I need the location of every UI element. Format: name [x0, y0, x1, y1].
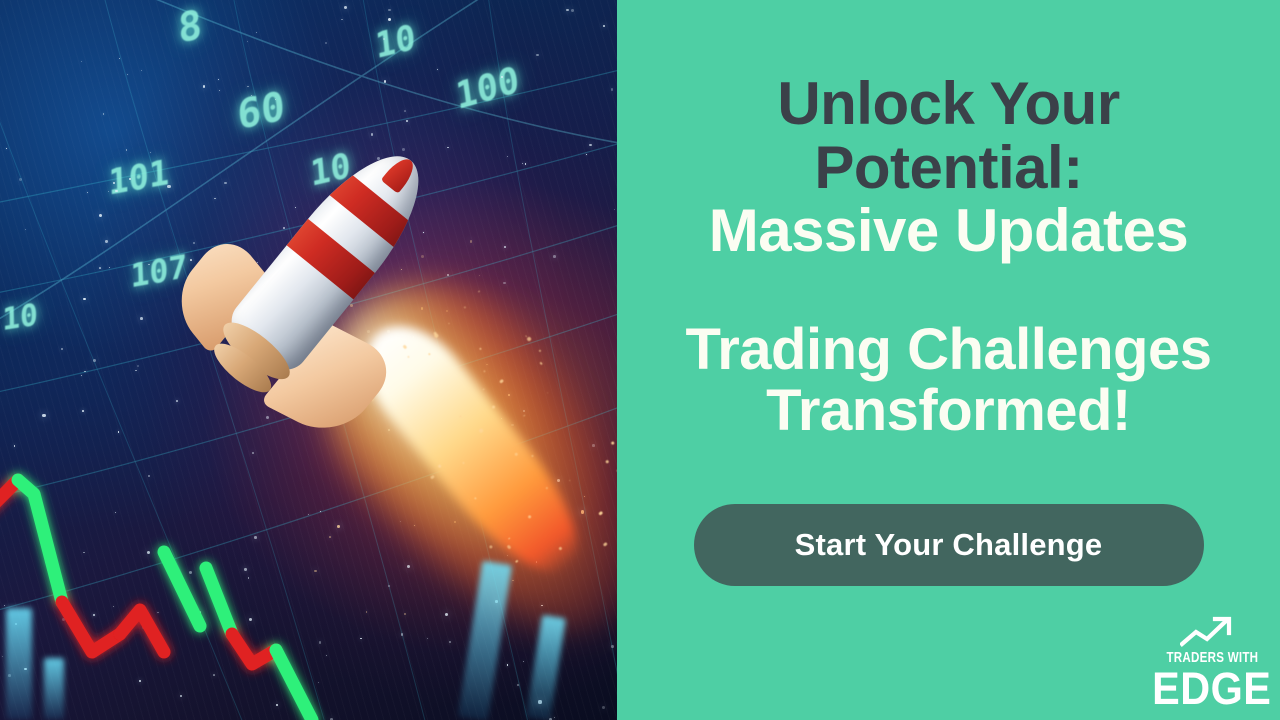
- star-particle: [135, 370, 137, 372]
- star-particle: [42, 414, 45, 417]
- star-particle: [127, 74, 128, 75]
- promo-banner: 810100601010110710: [0, 0, 1280, 720]
- content-panel: Unlock Your Potential: Massive Updates T…: [617, 0, 1280, 720]
- star-particle: [218, 79, 219, 80]
- start-your-challenge-button[interactable]: Start Your Challenge: [694, 504, 1204, 586]
- star-particle: [93, 359, 96, 362]
- star-particle: [109, 267, 111, 269]
- star-particle: [119, 58, 120, 59]
- star-particle: [99, 267, 101, 269]
- star-particle: [523, 410, 525, 412]
- star-particle: [344, 6, 347, 9]
- star-particle: [571, 9, 574, 12]
- star-particle: [141, 70, 142, 71]
- subheadline-line-2: Transformed!: [641, 380, 1256, 441]
- star-particle: [219, 90, 220, 91]
- star-particle: [341, 19, 343, 21]
- star-particle: [19, 178, 22, 181]
- rocket-nose-tip: [381, 154, 419, 194]
- star-particle: [176, 400, 178, 402]
- star-particle: [129, 178, 131, 180]
- volume-bar-2: [44, 658, 64, 720]
- star-particle: [384, 80, 387, 83]
- star-particle: [404, 110, 406, 112]
- star-particle: [614, 209, 615, 210]
- subheadline-line-1: Trading Challenges: [641, 319, 1256, 380]
- star-particle: [113, 182, 115, 184]
- star-particle: [61, 348, 63, 350]
- star-particle: [150, 152, 151, 153]
- cta-container: Start Your Challenge: [617, 504, 1280, 586]
- star-particle: [25, 229, 26, 230]
- star-particle: [525, 163, 526, 164]
- star-particle: [203, 85, 205, 87]
- hero-image-panel: 810100601010110710: [0, 0, 617, 720]
- headline-secondary: Trading Challenges Transformed!: [617, 319, 1280, 442]
- star-particle: [251, 95, 252, 96]
- star-particle: [103, 113, 104, 114]
- star-particle: [388, 18, 391, 21]
- star-particle: [388, 9, 390, 11]
- star-particle: [81, 61, 82, 62]
- trending-up-arrow-icon: [1180, 614, 1244, 648]
- star-particle: [589, 144, 591, 146]
- star-particle: [83, 298, 86, 301]
- star-particle: [437, 69, 438, 70]
- headline-primary: Unlock Your Potential: Massive Updates: [617, 72, 1280, 263]
- headline-line-1: Unlock Your: [641, 72, 1256, 136]
- star-particle: [247, 86, 248, 87]
- star-particle: [553, 255, 556, 258]
- star-particle: [256, 32, 257, 33]
- star-particle: [81, 375, 82, 376]
- star-particle: [447, 147, 449, 149]
- star-particle: [566, 9, 568, 11]
- star-particle: [126, 149, 128, 151]
- headline-line-2: Potential:: [641, 136, 1256, 200]
- star-particle: [501, 76, 503, 78]
- star-particle: [6, 148, 7, 149]
- star-particle: [167, 185, 170, 188]
- star-particle: [108, 191, 110, 193]
- star-particle: [406, 120, 408, 122]
- star-particle: [586, 154, 587, 155]
- star-particle: [82, 410, 84, 412]
- star-particle: [603, 25, 605, 27]
- star-particle: [115, 190, 118, 193]
- star-particle: [611, 88, 613, 90]
- star-particle: [486, 364, 487, 365]
- star-particle: [247, 41, 248, 42]
- star-particle: [105, 240, 107, 242]
- headline-line-3: Massive Updates: [641, 199, 1256, 263]
- star-particle: [522, 163, 523, 164]
- star-particle: [536, 54, 539, 57]
- star-particle: [99, 214, 102, 217]
- volume-bar-1: [6, 608, 32, 720]
- star-particle: [383, 38, 385, 40]
- star-particle: [87, 192, 88, 193]
- star-particle: [507, 156, 508, 157]
- price-line-chart: [0, 420, 617, 720]
- star-particle: [325, 42, 327, 44]
- star-particle: [508, 394, 510, 396]
- star-particle: [137, 365, 139, 367]
- star-particle: [84, 371, 86, 373]
- traders-with-edge-logo[interactable]: TRADERS WITH EDGE: [1160, 614, 1264, 712]
- logo-main-text: EDGE: [1152, 666, 1271, 712]
